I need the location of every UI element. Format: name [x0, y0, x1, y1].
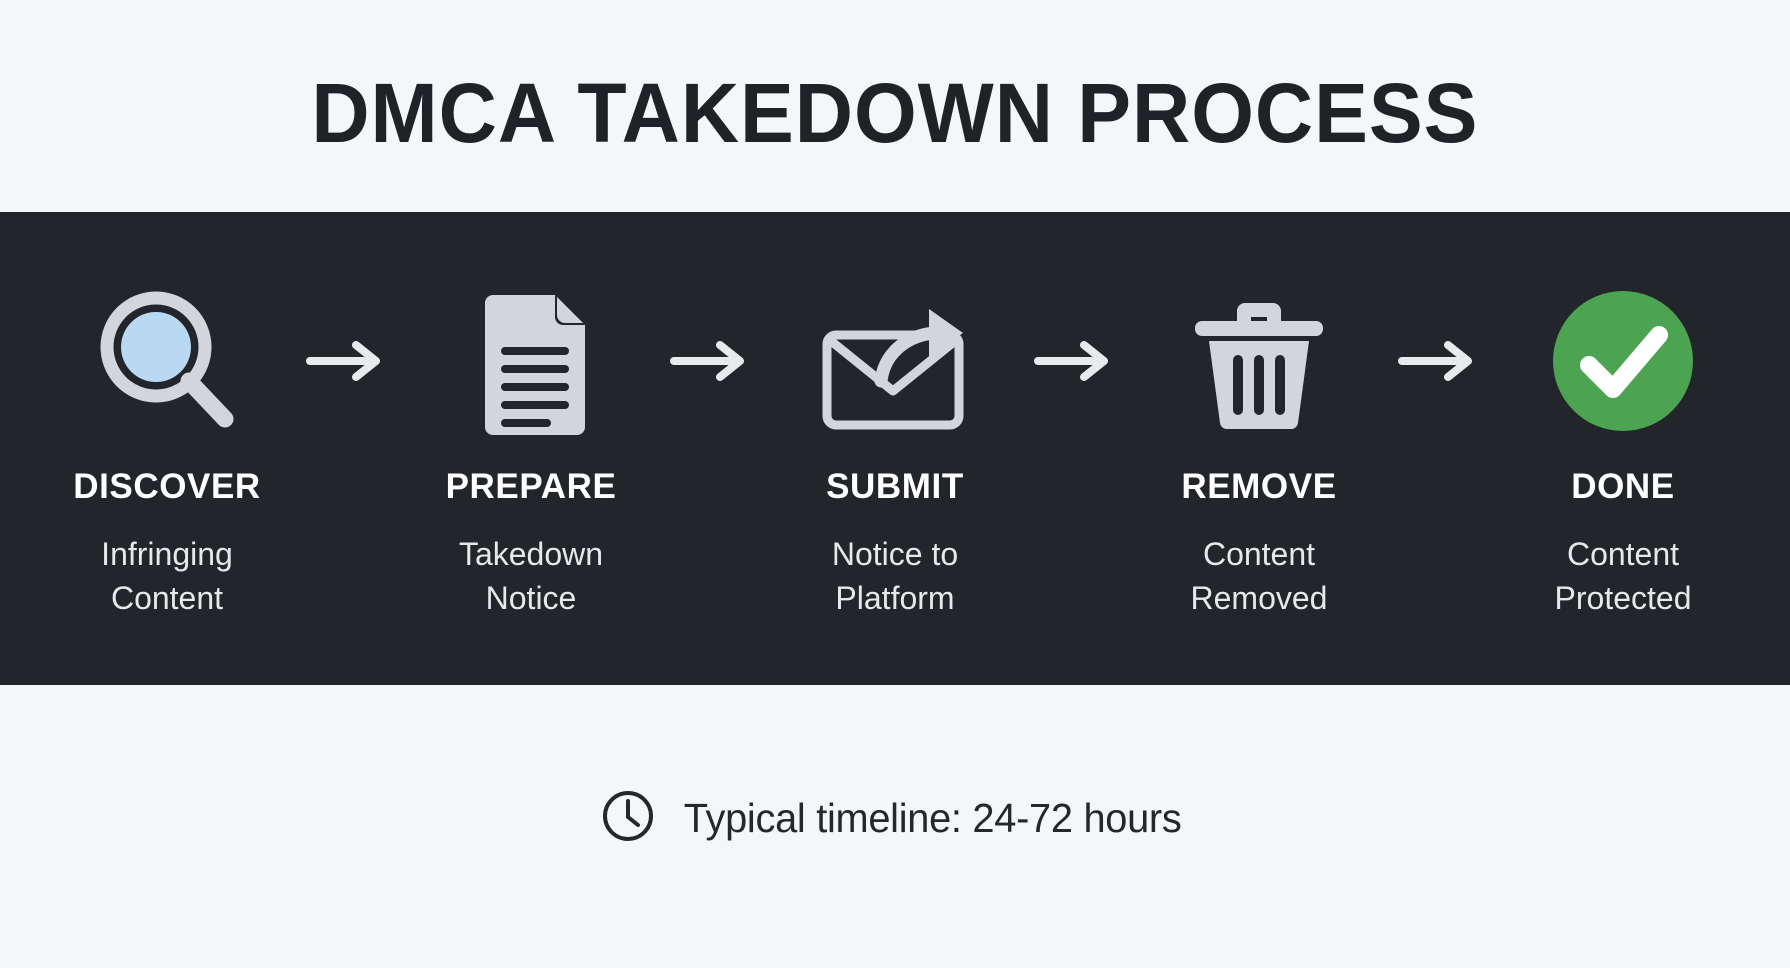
step-description-line-2: Content [101, 576, 233, 620]
step-description-line-2: Removed [1191, 576, 1328, 620]
process-step-discover: DISCOVER Infringing Content [41, 277, 293, 620]
step-description-line-1: Takedown [459, 532, 603, 576]
step-description: Takedown Notice [459, 532, 603, 620]
step-description-line-1: Content [1191, 532, 1328, 576]
step-description-line-1: Content [1555, 532, 1692, 576]
step-description-line-2: Platform [832, 576, 958, 620]
step-description-line-1: Infringing [101, 532, 233, 576]
step-description-line-1: Notice to [832, 532, 958, 576]
title-band: DMCA TAKEDOWN PROCESS [0, 0, 1790, 212]
process-step-done: DONE Content Protected [1497, 277, 1749, 620]
step-title: DISCOVER [73, 469, 261, 504]
step-title: DONE [1571, 469, 1675, 504]
step-description: Notice to Platform [832, 532, 958, 620]
footer-band: Typical timeline: 24-72 hours [0, 685, 1790, 968]
step-description-line-2: Notice [459, 576, 603, 620]
check-circle-icon [1539, 277, 1707, 445]
process-steps-band: DISCOVER Infringing Content [0, 212, 1790, 685]
step-description: Infringing Content [101, 532, 233, 620]
envelope-send-icon [811, 277, 979, 445]
arrow-right-icon [1385, 277, 1497, 445]
step-description-line-2: Protected [1555, 576, 1692, 620]
step-description: Content Protected [1555, 532, 1692, 620]
step-description: Content Removed [1191, 532, 1328, 620]
arrow-right-icon [293, 277, 405, 445]
process-step-submit: SUBMIT Notice to Platform [769, 277, 1021, 620]
magnifier-icon [83, 277, 251, 445]
document-icon [447, 277, 615, 445]
arrow-right-icon [657, 277, 769, 445]
clock-icon [600, 788, 656, 849]
step-title: SUBMIT [826, 469, 964, 504]
trash-icon [1175, 277, 1343, 445]
process-step-prepare: PREPARE Takedown Notice [405, 277, 657, 620]
arrow-right-icon [1021, 277, 1133, 445]
process-steps-row: DISCOVER Infringing Content [44, 277, 1746, 620]
dmca-takedown-infographic: DMCA TAKEDOWN PROCESS DISCOVER Infringin… [0, 0, 1790, 968]
page-title: DMCA TAKEDOWN PROCESS [311, 57, 1478, 155]
timeline-text: Typical timeline: 24-72 hours [684, 795, 1182, 842]
timeline-note: Typical timeline: 24-72 hours [600, 788, 1189, 865]
process-step-remove: REMOVE Content Removed [1133, 277, 1385, 620]
step-title: PREPARE [446, 469, 617, 504]
step-title: REMOVE [1181, 469, 1336, 504]
